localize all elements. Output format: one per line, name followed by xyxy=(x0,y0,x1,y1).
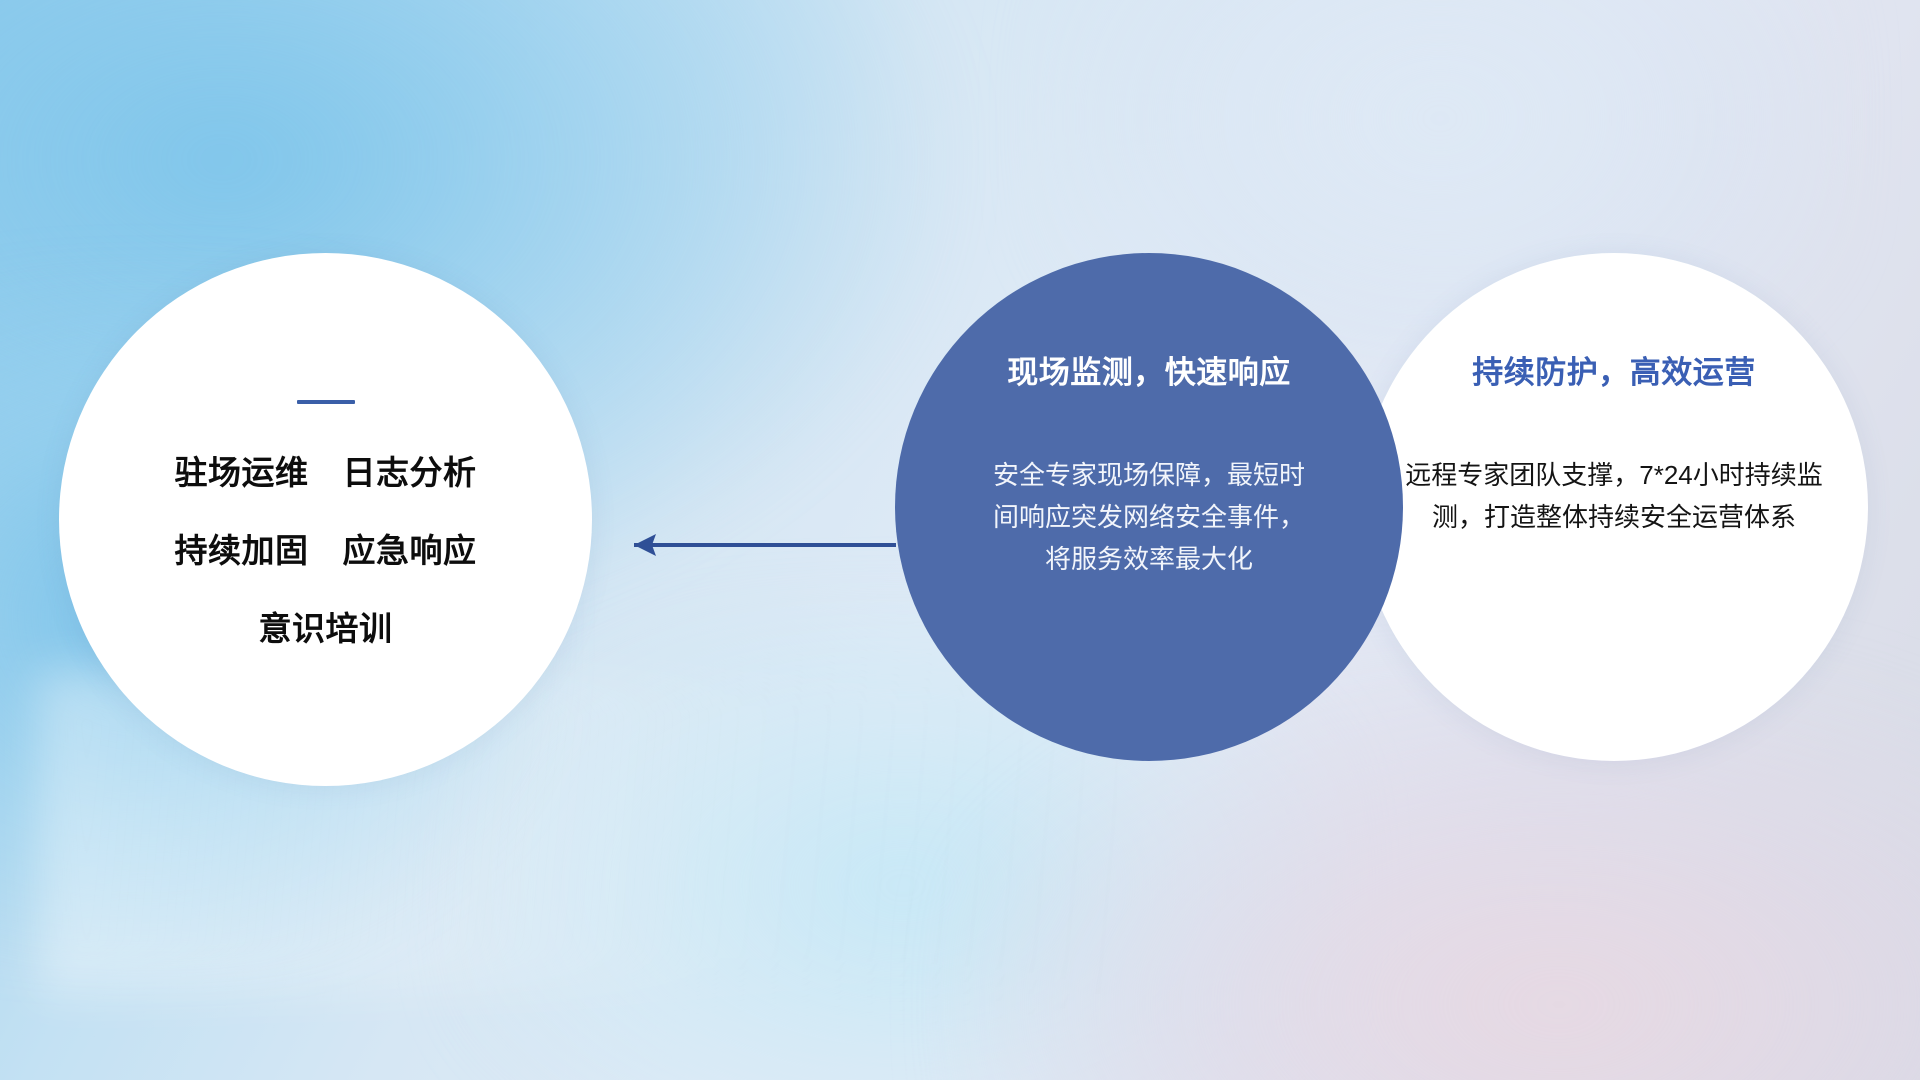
right-circle-body: 远程专家团队支撑，7*24小时持续监测，打造整体持续安全运营体系 xyxy=(1404,454,1824,538)
connector-arrow-icon xyxy=(608,525,898,565)
capability-item: 应急响应 xyxy=(343,534,477,567)
capability-item: 意识培训 xyxy=(259,612,393,645)
capability-circle-left[interactable]: 驻场运维 日志分析 持续加固 应急响应 意识培训 xyxy=(59,253,592,786)
middle-circle-content: 现场监测，快速响应 安全专家现场保障，最短时间响应突发网络安全事件，将服务效率最… xyxy=(895,253,1403,761)
diagram-canvas: 驻场运维 日志分析 持续加固 应急响应 意识培训 持续防护，高效运营 远程专家团… xyxy=(0,0,1920,1080)
capability-item: 日志分析 xyxy=(343,456,477,489)
left-circle-content: 驻场运维 日志分析 持续加固 应急响应 意识培训 xyxy=(59,253,592,786)
capability-row: 驻场运维 日志分析 xyxy=(175,456,477,489)
right-circle-heading: 持续防护，高效运营 xyxy=(1472,347,1756,392)
capability-circle-middle[interactable]: 现场监测，快速响应 安全专家现场保障，最短时间响应突发网络安全事件，将服务效率最… xyxy=(895,253,1403,761)
capability-row: 意识培训 xyxy=(259,612,393,645)
right-circle-content: 持续防护，高效运营 远程专家团队支撑，7*24小时持续监测，打造整体持续安全运营… xyxy=(1360,253,1868,761)
capability-circle-right[interactable]: 持续防护，高效运营 远程专家团队支撑，7*24小时持续监测，打造整体持续安全运营… xyxy=(1360,253,1868,761)
middle-circle-body: 安全专家现场保障，最短时间响应突发网络安全事件，将服务效率最大化 xyxy=(990,454,1308,580)
capability-row: 持续加固 应急响应 xyxy=(175,534,477,567)
capability-item: 驻场运维 xyxy=(175,456,309,489)
left-divider-icon xyxy=(297,400,355,404)
middle-circle-heading: 现场监测，快速响应 xyxy=(1007,347,1291,392)
capability-item: 持续加固 xyxy=(175,534,309,567)
